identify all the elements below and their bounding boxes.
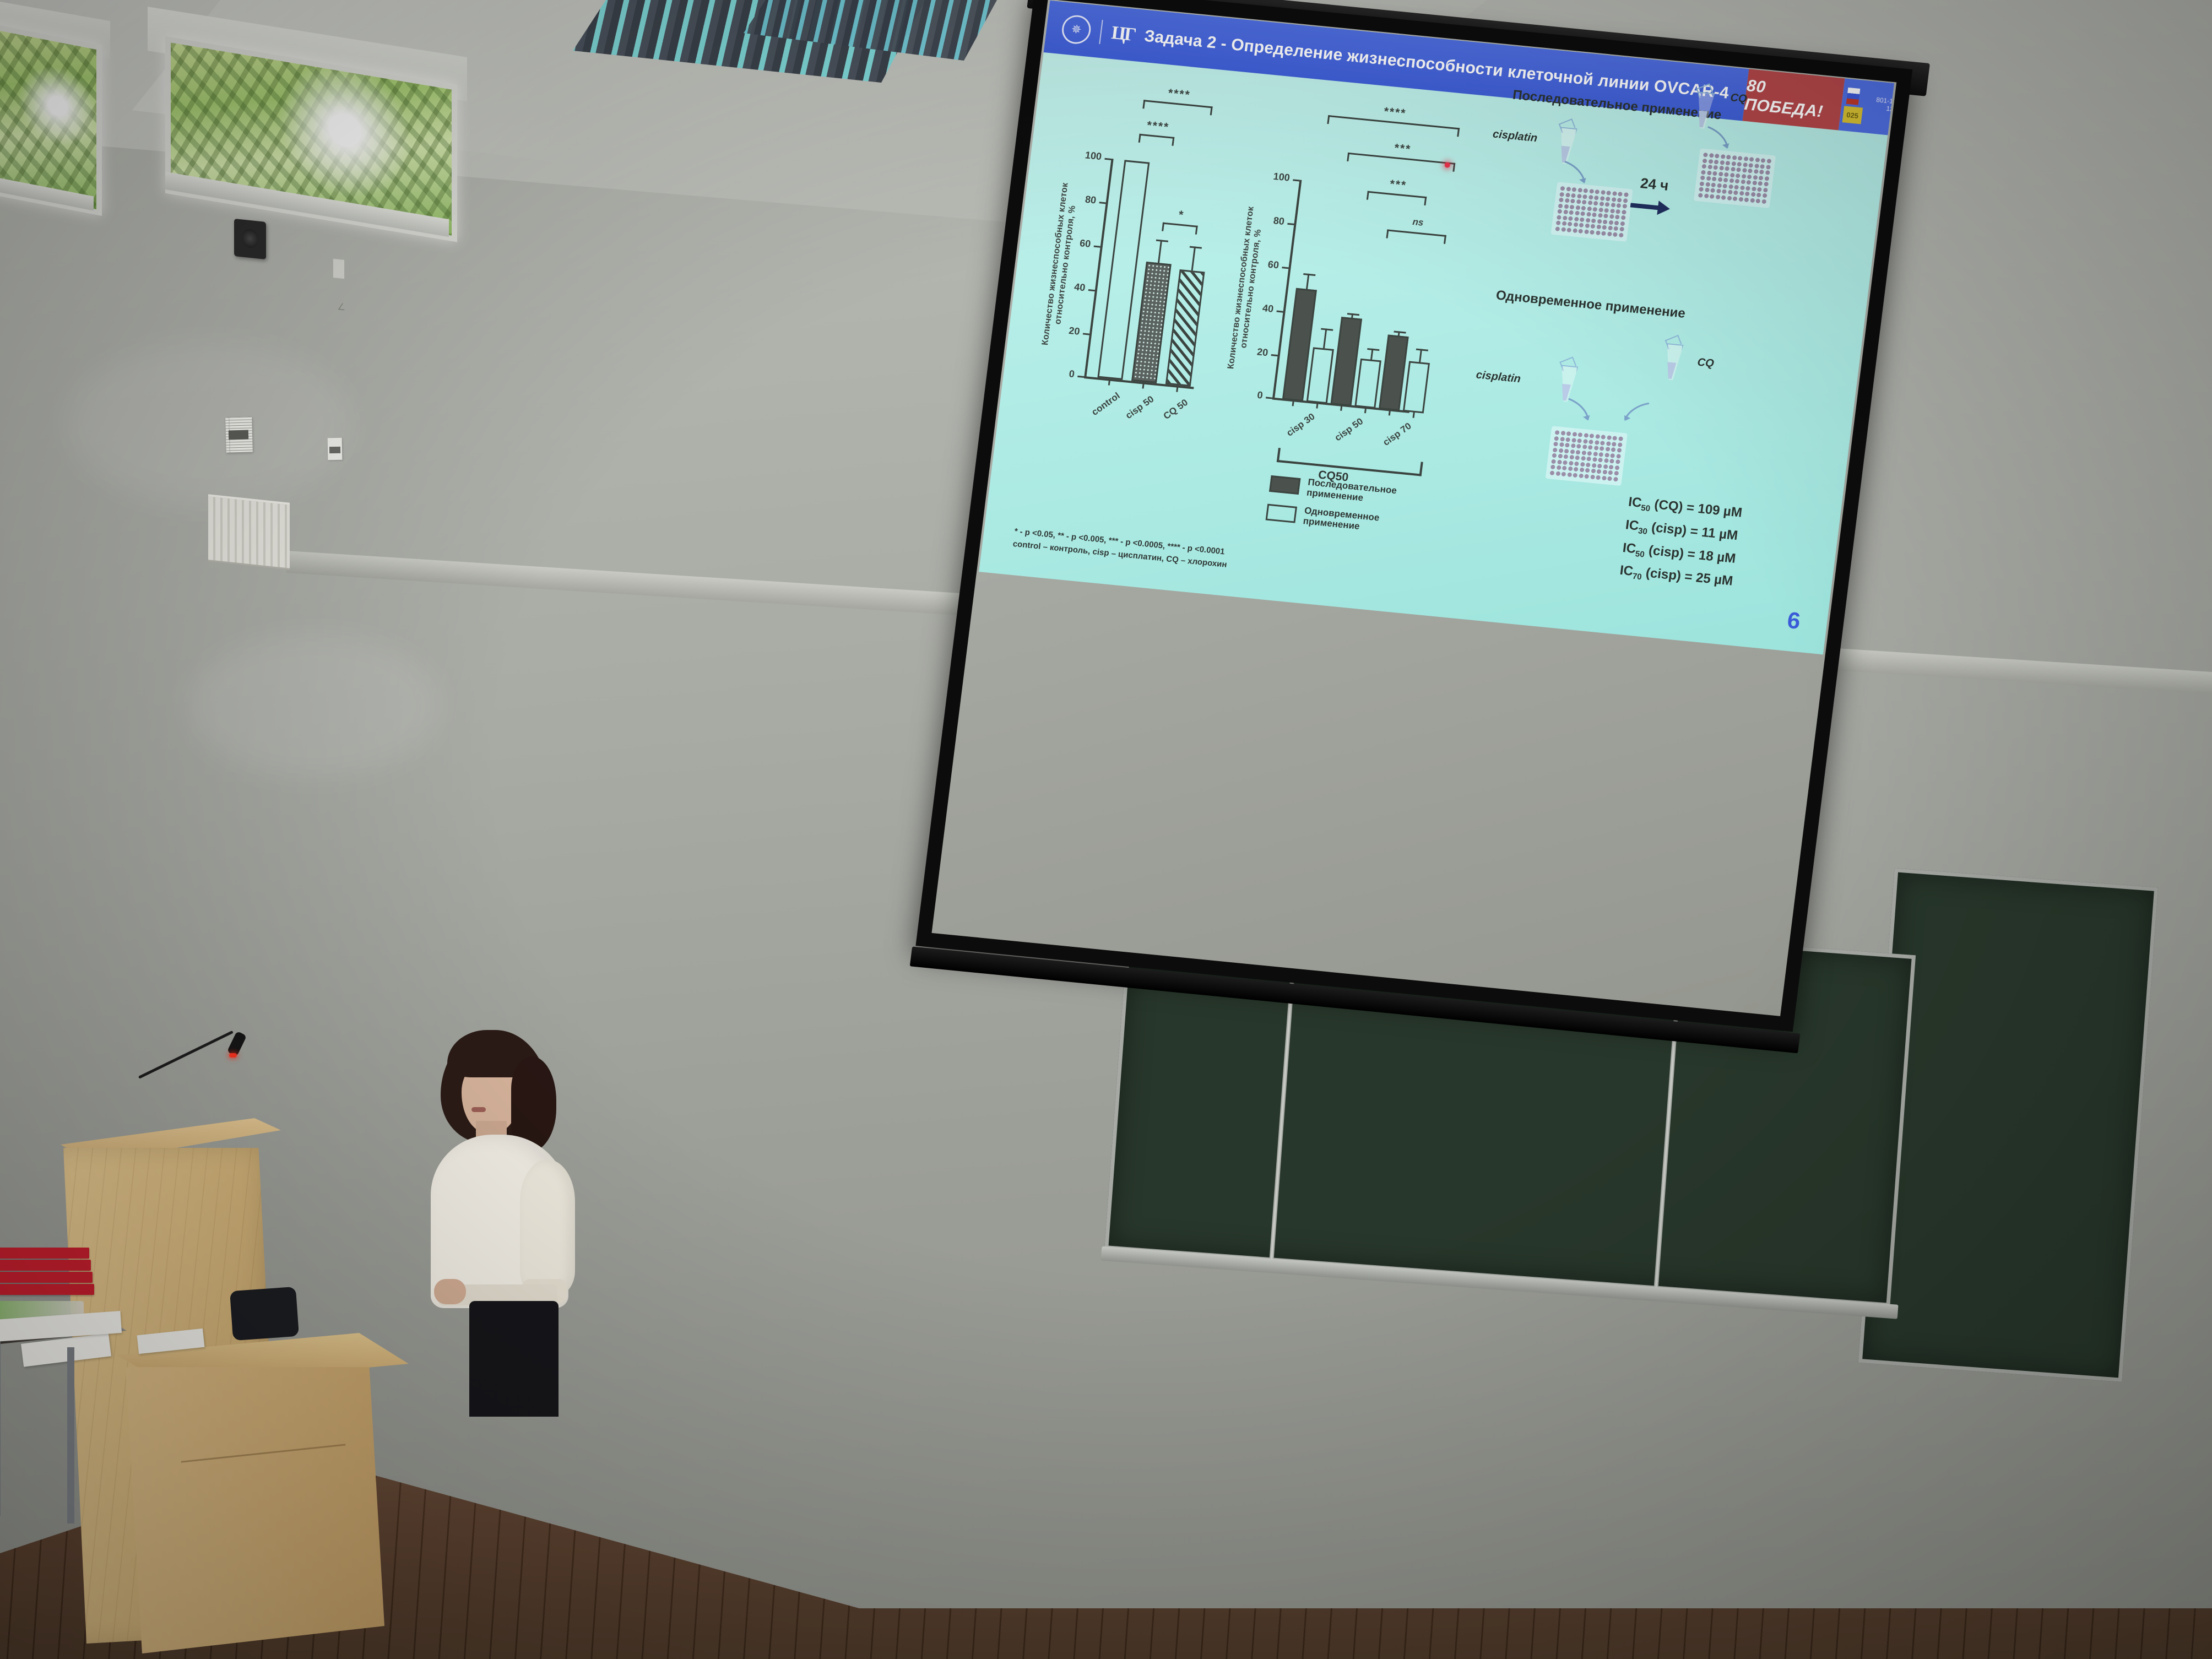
microplate-well — [1596, 475, 1601, 480]
microplate-well — [1590, 230, 1595, 235]
ic-value-4: IC70 (cisp) = 25 µM — [1619, 563, 1734, 591]
presenter-skirt — [469, 1301, 559, 1417]
microplate-well — [1754, 163, 1759, 168]
microplate-well — [1599, 202, 1604, 207]
microplate-well — [1564, 448, 1569, 453]
microplate-well — [1601, 231, 1606, 236]
chart2-bar-cisp70-sim — [1403, 361, 1430, 413]
projection-screen: ✵ ЦГ Задача 2 - Определение жизнеспособн… — [912, 0, 1923, 1060]
chart1-sig-text-3: * — [1163, 207, 1200, 224]
microplate-well — [1712, 171, 1717, 176]
microplate-well — [1558, 448, 1563, 453]
microplate-well — [1575, 205, 1580, 210]
microplate-well — [1560, 436, 1565, 441]
chart2-sig-3: *** — [1368, 185, 1427, 191]
microplate-well — [1565, 443, 1570, 448]
microplate-well — [1602, 225, 1607, 230]
microplate-well — [1727, 196, 1732, 200]
microplate-well — [1755, 158, 1760, 162]
microplate-well — [1557, 459, 1562, 464]
microplate-well — [1724, 172, 1729, 177]
microplate-well — [1596, 230, 1601, 235]
microplate-well — [1608, 470, 1613, 475]
microplate-well — [1722, 189, 1727, 194]
microplate-well — [1557, 215, 1562, 220]
microplate-well — [1582, 200, 1587, 205]
microplate-well — [1615, 209, 1620, 214]
chart2-sig-text-2: *** — [1348, 137, 1457, 161]
microplate-well — [1567, 472, 1572, 477]
wall-texture — [66, 341, 353, 507]
microplate-well — [1605, 447, 1610, 452]
microplate-well — [1583, 439, 1588, 444]
microplate-well — [1571, 187, 1576, 192]
microplate-well — [1562, 215, 1567, 220]
microplate-well — [1611, 447, 1616, 452]
microplate-well — [1586, 457, 1591, 462]
microplate-well — [1764, 176, 1769, 181]
chart1-ytick-40 — [1088, 289, 1095, 291]
microplate-well — [1573, 222, 1578, 227]
microplate-well — [1571, 193, 1576, 198]
microplate-well — [1602, 470, 1607, 475]
university-emblem-icon: ✵ — [1060, 14, 1092, 45]
microplate-well — [1618, 192, 1623, 197]
chart-viability-combo: Количество жизнеспособных клеток относит… — [1210, 93, 1458, 517]
wall-mark: ∠ — [337, 301, 347, 315]
presenter-sleeve — [520, 1159, 575, 1297]
microplate-well — [1622, 209, 1627, 214]
microplate-well — [1579, 473, 1584, 478]
chart1-ytick-80 — [1099, 202, 1105, 204]
microplate-well — [1609, 214, 1614, 219]
microplate-well — [1589, 189, 1594, 194]
microplate-well — [1598, 452, 1603, 457]
chart2-xtick-3a — [1389, 409, 1391, 415]
microplate-well — [1762, 193, 1767, 198]
institute-monogram-icon: ЦГ — [1110, 23, 1136, 46]
microplate-well — [1764, 182, 1769, 187]
microplate-well — [1612, 442, 1617, 447]
microplate-well — [1745, 192, 1750, 197]
microplate-well — [1742, 168, 1747, 173]
victory-badge: 80 ПОБЕДА! — [1743, 69, 1845, 130]
legend-label-simultaneous: Одновременное применение — [1303, 505, 1380, 533]
chart1-ytick-20 — [1083, 333, 1089, 335]
microplate-well — [1597, 463, 1602, 468]
microplate-well — [1600, 441, 1605, 446]
microplate-well — [1623, 192, 1628, 197]
microplate-well — [1733, 196, 1738, 201]
microplate-well — [1593, 201, 1598, 206]
microplate-well — [1607, 476, 1612, 481]
microplate-well — [1750, 198, 1755, 203]
flag-icon — [1846, 88, 1861, 105]
victory-badge-label: 80 ПОБЕДА! — [1743, 77, 1844, 123]
microplate-well — [1714, 159, 1719, 164]
microplate-well — [1605, 202, 1610, 207]
microplate-well — [1743, 156, 1748, 161]
microplate-well — [1738, 156, 1743, 161]
microplate-well — [1580, 217, 1585, 222]
microplate-well — [1557, 209, 1562, 214]
chart2-bar-cisp50-sim — [1354, 359, 1381, 409]
microplate-well — [1582, 194, 1587, 199]
tube-icon-cq-2 — [1661, 338, 1684, 380]
microplate-well — [1748, 169, 1753, 174]
ic-value-1: IC50 (CQ) = 109 µM — [1627, 495, 1743, 523]
laser-pointer-dot — [1444, 162, 1450, 168]
chart1-sig-control-cq50: **** — [1145, 93, 1213, 100]
microplate-well — [1558, 454, 1563, 459]
microplate-well — [1583, 188, 1588, 193]
chart1-sig-control-cisp50: **** — [1140, 127, 1175, 131]
microplate-well — [1705, 182, 1710, 187]
microplate-well — [1701, 170, 1706, 175]
microplate-well — [1574, 216, 1579, 221]
ic-value-2: IC30 (cisp) = 11 µM — [1624, 517, 1740, 545]
microplate-well — [1578, 229, 1583, 234]
microplate-well — [1613, 476, 1618, 481]
chart2-ytick-40 — [1276, 311, 1283, 313]
microplate-well — [1725, 166, 1730, 171]
microplate-well — [1607, 435, 1612, 440]
microplate-well — [1559, 192, 1564, 197]
microplate-well — [1614, 471, 1619, 476]
microplate-well — [1593, 446, 1598, 451]
chart1-err-cq50 — [1191, 246, 1196, 270]
chart2-sig-4: ns — [1388, 223, 1447, 229]
microplate-well — [1586, 462, 1591, 467]
microplate-well — [1717, 177, 1722, 182]
microplate-well — [1596, 469, 1601, 474]
microplate-well — [1565, 192, 1570, 197]
microplate-well — [1734, 179, 1739, 184]
chart2-err-cisp30-seq — [1306, 274, 1310, 290]
microplate-well — [1604, 452, 1609, 457]
microplate-well — [1597, 219, 1602, 224]
microplate-well — [1589, 433, 1594, 438]
microplate-well — [1601, 435, 1606, 440]
microplate-well — [1753, 169, 1758, 174]
microplate-well — [1594, 195, 1599, 200]
chart1-xtick-2 — [1142, 382, 1144, 388]
microplate-well — [1563, 460, 1568, 465]
microplate-well — [1610, 453, 1615, 458]
chart2-ytick-0 — [1266, 397, 1272, 399]
microplate-well — [1623, 198, 1628, 203]
microplate-well — [1568, 221, 1573, 226]
schematic-label-cq-2: CQ — [1696, 356, 1715, 371]
microplate-well — [1576, 444, 1581, 449]
microplate-well — [1699, 181, 1704, 186]
microplate-well — [1559, 198, 1564, 203]
microplate-well — [1745, 186, 1750, 191]
microplate-well — [1759, 170, 1764, 175]
wall-notice-left — [225, 416, 253, 452]
microplate-well — [1739, 191, 1744, 196]
microplate-well — [1588, 194, 1593, 199]
microplate-well — [1710, 194, 1715, 199]
chart2-sig-text-4: ns — [1387, 214, 1448, 231]
microplate-well — [1699, 187, 1704, 192]
microplate-well — [1555, 430, 1560, 435]
chart1-xtick-1 — [1108, 378, 1110, 385]
microplate-well — [1559, 442, 1564, 447]
microplate-well — [1608, 226, 1613, 231]
microplate-well — [1604, 208, 1609, 213]
ic-values-block: IC50 (CQ) = 109 µM IC30 (cisp) = 11 µM I… — [1618, 495, 1743, 597]
microplate-well — [1603, 464, 1608, 469]
microplate-well — [1733, 191, 1738, 196]
microplate-well — [1763, 187, 1768, 192]
microplate-well — [1550, 470, 1555, 475]
microplate-well — [1603, 219, 1608, 224]
microplate-well — [1606, 196, 1611, 201]
microplate-well — [1609, 459, 1614, 464]
microplate-well — [1719, 166, 1724, 171]
microplate-well — [1555, 226, 1560, 231]
microplate-well — [1608, 220, 1613, 225]
microplate-well — [1736, 167, 1741, 172]
microplate-well — [1566, 431, 1571, 436]
microplate-well — [1709, 153, 1714, 158]
microplate-well — [1766, 165, 1771, 170]
chart1-bar-cq50 — [1165, 269, 1205, 387]
microplate-well — [1619, 227, 1624, 232]
microplate-well — [1720, 154, 1725, 159]
microplate-well — [1718, 171, 1723, 176]
legend-item-simultaneous: Одновременное применение — [1265, 502, 1410, 536]
microplate-well — [1571, 437, 1576, 442]
microplate-well — [1618, 436, 1623, 441]
microplate-well — [1576, 199, 1581, 204]
microplate-well — [1750, 192, 1755, 197]
microplate-well — [1554, 436, 1559, 441]
microplate-well — [1760, 164, 1765, 169]
microplate-well — [1572, 432, 1577, 437]
microplate-well — [1614, 220, 1619, 225]
microplate-well — [1607, 231, 1612, 236]
chart1-bar-cisp50 — [1131, 262, 1172, 383]
microplate-well — [1761, 199, 1766, 204]
chart1-ylabel-0: 0 — [1048, 366, 1075, 381]
microplate-well — [1588, 440, 1593, 444]
chart2-ytick-60 — [1282, 267, 1288, 269]
microplate-well — [1734, 185, 1739, 189]
microplate-well — [1720, 160, 1725, 165]
microplate-well — [1568, 467, 1573, 471]
chart1-sig-cisp50-cq50: * — [1164, 216, 1199, 219]
microplate-well — [1611, 203, 1615, 208]
microplate-well — [1577, 193, 1582, 198]
microplate-well — [1564, 198, 1569, 203]
microplate-well — [1551, 459, 1556, 464]
microplate-well — [1737, 161, 1742, 166]
curved-arrow-icon-2 — [1703, 124, 1737, 153]
wall-texture-2 — [187, 633, 441, 777]
microplate-well — [1561, 471, 1566, 476]
microplate-well — [1723, 178, 1728, 183]
chart2-ytick-20 — [1271, 354, 1278, 356]
microplate-well — [1585, 218, 1590, 223]
microplate-well — [1704, 193, 1709, 198]
microplate-well — [1713, 165, 1718, 170]
microplate-well — [1731, 161, 1736, 166]
microplate-well — [1566, 187, 1571, 192]
microplate-well — [1581, 456, 1586, 461]
microplate-well — [1587, 200, 1592, 205]
chart2-err-cisp70-sim — [1419, 349, 1422, 363]
microplate-well — [1596, 225, 1601, 230]
microplate-well — [1703, 158, 1707, 163]
microplate-well — [1592, 457, 1597, 462]
microplate-well — [1612, 436, 1617, 441]
microplate-well — [1740, 185, 1745, 190]
microplate-well — [1591, 218, 1596, 223]
microplate-well — [1553, 442, 1558, 447]
microplate-well — [1590, 474, 1595, 479]
microplate-well — [1563, 454, 1568, 459]
microplate-well — [1574, 467, 1579, 472]
microplate-well — [1580, 212, 1585, 216]
microplate-well — [1616, 203, 1621, 208]
microplate-well — [1593, 451, 1598, 456]
microplate-well — [1604, 458, 1609, 463]
microplate-well — [1603, 214, 1608, 219]
microplate-well — [1703, 153, 1708, 158]
microplate-well — [1755, 198, 1760, 203]
microplate-well — [1585, 468, 1590, 473]
microplate-well — [1584, 474, 1589, 479]
microplate-well — [1698, 193, 1703, 198]
microplate-well — [1610, 208, 1615, 213]
microplate-well — [1595, 189, 1600, 194]
microplate-well — [1620, 221, 1625, 226]
gold-badge: 025 — [1842, 106, 1863, 124]
microplate-well — [1622, 204, 1627, 209]
microplate-well — [1757, 187, 1762, 192]
microplate-well — [1732, 155, 1737, 160]
microplate-well — [1601, 190, 1606, 195]
microplate-well — [1617, 197, 1622, 202]
microplate-well — [1765, 170, 1770, 175]
wall-sensor — [333, 258, 345, 279]
microplate-well — [1721, 195, 1726, 200]
microplate-icon-3 — [1546, 426, 1628, 485]
microplate-well — [1587, 451, 1592, 456]
wall-notice-right — [328, 438, 343, 460]
slide-number: 6 — [1786, 607, 1802, 635]
microplate-well — [1611, 197, 1616, 202]
microplate-well — [1613, 232, 1618, 237]
legend-swatch-simultaneous — [1266, 504, 1297, 523]
tube-icon-cisplatin-1 — [1554, 121, 1578, 164]
microplate-well — [1577, 432, 1582, 437]
chart2-sig-2: *** — [1349, 146, 1456, 156]
microplate-well — [1614, 465, 1619, 470]
chart2-ytick-80 — [1287, 223, 1294, 225]
microplate-well — [1707, 170, 1712, 175]
microplate-well — [1579, 223, 1584, 227]
microplate-well — [1736, 173, 1741, 178]
microplate-well — [1591, 469, 1596, 474]
microplate-well — [1729, 178, 1734, 183]
microplate-well — [1747, 174, 1752, 179]
microplate-well — [1600, 196, 1604, 200]
microplate-well — [1569, 210, 1574, 215]
schematic-label-cq-1: CQ — [1730, 91, 1748, 106]
microplate-well — [1609, 464, 1614, 469]
microplate-well — [1730, 172, 1734, 177]
microplate-well — [1595, 440, 1600, 445]
microplate-well — [1616, 453, 1621, 458]
wall-speaker — [234, 219, 266, 259]
microplate-well — [1752, 186, 1756, 191]
side-table-leg-2 — [67, 1347, 74, 1524]
microplate-well — [1617, 442, 1622, 447]
lecture-hall-photo: ∠ ✵ ЦГ Задача 2 - Определение жизнеспосо… — [0, 0, 2212, 1659]
microplate-well — [1590, 224, 1595, 229]
microplate-well — [1565, 437, 1570, 442]
microplate-well — [1581, 450, 1586, 455]
microplate-well — [1618, 232, 1623, 237]
presenter-hand — [434, 1279, 466, 1304]
microplate-well — [1760, 158, 1765, 163]
microplate-well — [1715, 194, 1720, 199]
chart2-bar-cisp30-sim — [1306, 347, 1334, 404]
microplate-well — [1552, 453, 1557, 458]
microplate-well — [1705, 187, 1710, 192]
microplate-well — [1580, 462, 1585, 467]
microplate-well — [1588, 445, 1593, 450]
microplate-well — [1738, 197, 1743, 202]
chart1-xtick-3 — [1176, 386, 1178, 392]
microplate-well — [1748, 162, 1753, 167]
microplate-well — [1562, 221, 1566, 226]
microplate-well — [1579, 468, 1584, 473]
microplate-well — [1606, 441, 1611, 446]
microplate-well — [1731, 167, 1736, 172]
ic-value-3: IC50 (cisp) = 18 µM — [1622, 540, 1737, 568]
microplate-well — [1563, 210, 1568, 215]
microplate-well — [1566, 227, 1571, 232]
microplate-well — [1573, 473, 1577, 478]
microplate-well — [1741, 174, 1746, 178]
microplate-well — [1592, 207, 1597, 212]
microplate-well — [1577, 188, 1582, 193]
chart2-err-cisp30-sim — [1323, 328, 1327, 349]
microplate-well — [1717, 183, 1722, 188]
schematic-simultaneous-title: Одновременное применение — [1495, 288, 1686, 321]
side-table-leg-1 — [0, 1340, 1, 1516]
microplate-well — [1595, 434, 1600, 439]
microplate-well — [1600, 446, 1604, 451]
microplate-well — [1574, 461, 1579, 466]
presentation-slide: ✵ ЦГ Задача 2 - Определение жизнеспособн… — [979, 1, 1894, 655]
chart1-ytick-60 — [1094, 246, 1100, 248]
slide-footnote: * - p <0.05, ** - p <0.005, *** - p <0.0… — [1012, 525, 1229, 571]
microplate-well — [1726, 155, 1731, 160]
microplate-well — [1569, 455, 1574, 460]
microplate-well — [1753, 175, 1758, 180]
tube-icon-cisplatin-2 — [1555, 359, 1579, 402]
right-arrow-icon — [1628, 197, 1672, 217]
microplate-well — [1556, 465, 1561, 470]
microplate-well — [1701, 164, 1706, 169]
microplate-well — [1570, 449, 1575, 454]
microplate-well — [1598, 207, 1603, 212]
